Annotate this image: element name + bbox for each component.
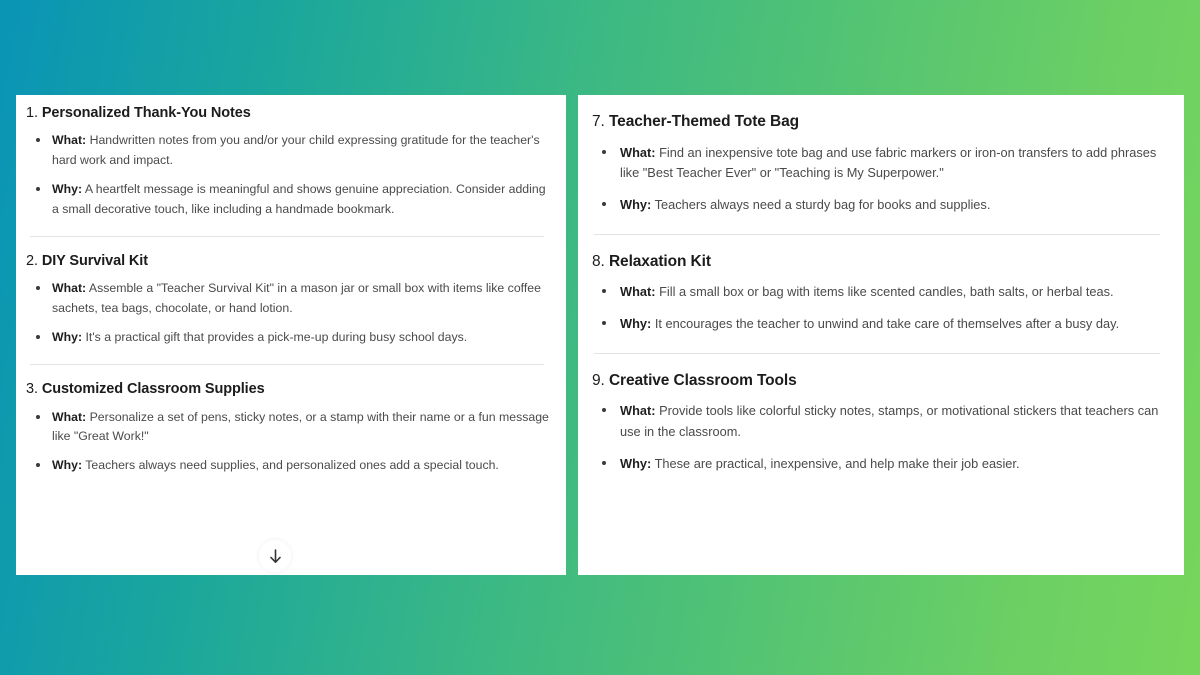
section-title: Teacher-Themed Tote Bag xyxy=(609,113,799,130)
section-heading: 7. Teacher-Themed Tote Bag xyxy=(592,113,1166,132)
bullet-label: What: xyxy=(620,145,656,160)
list-item: What: Find an inexpensive tote bag and u… xyxy=(592,143,1166,184)
section-9: 9. Creative Classroom Tools What: Provid… xyxy=(592,372,1166,475)
bullet-text: A heartfelt message is meaningful and sh… xyxy=(52,182,546,216)
section-bullet-list: What: Find an inexpensive tote bag and u… xyxy=(592,143,1166,216)
list-item: Why: These are practical, inexpensive, a… xyxy=(592,454,1166,475)
list-item: Why: It's a practical gift that provides… xyxy=(26,328,552,348)
section-number: 7. xyxy=(592,113,605,130)
section-title: DIY Survival Kit xyxy=(42,253,148,269)
section-2: 2. DIY Survival Kit What: Assemble a "Te… xyxy=(26,253,552,348)
list-item: What: Personalize a set of pens, sticky … xyxy=(26,408,552,448)
section-1: 1. Personalized Thank-You Notes What: Ha… xyxy=(26,105,552,220)
bullet-text: These are practical, inexpensive, and he… xyxy=(655,456,1020,471)
bullet-text: Teachers always need supplies, and perso… xyxy=(85,458,499,472)
bullet-label: Why: xyxy=(52,458,82,472)
list-item: Why: Teachers always need a sturdy bag f… xyxy=(592,195,1166,216)
bullet-text: It encourages the teacher to unwind and … xyxy=(655,316,1119,331)
bullet-label: Why: xyxy=(620,456,651,471)
list-item: Why: It encourages the teacher to unwind… xyxy=(592,314,1166,335)
section-number: 8. xyxy=(592,253,605,270)
list-item: Why: Teachers always need supplies, and … xyxy=(26,456,552,476)
section-heading: 9. Creative Classroom Tools xyxy=(592,372,1166,391)
scroll-down-button[interactable] xyxy=(259,540,291,572)
bullet-text: It's a practical gift that provides a pi… xyxy=(85,330,467,344)
section-title: Customized Classroom Supplies xyxy=(42,381,265,397)
section-heading: 3. Customized Classroom Supplies xyxy=(26,381,552,398)
list-item: What: Fill a small box or bag with items… xyxy=(592,282,1166,303)
bullet-label: What: xyxy=(52,133,86,147)
bullet-label: What: xyxy=(52,410,86,424)
arrow-down-icon xyxy=(268,548,283,565)
section-7: 7. Teacher-Themed Tote Bag What: Find an… xyxy=(592,113,1166,216)
bullet-label: Why: xyxy=(620,316,651,331)
section-number: 1. xyxy=(26,105,38,121)
list-item: What: Provide tools like colorful sticky… xyxy=(592,401,1166,442)
bullet-label: Why: xyxy=(52,330,82,344)
bullet-label: What: xyxy=(52,281,86,295)
section-bullet-list: What: Personalize a set of pens, sticky … xyxy=(26,408,552,477)
bullet-label: What: xyxy=(620,403,656,418)
section-8: 8. Relaxation Kit What: Fill a small box… xyxy=(592,253,1166,335)
bullet-label: What: xyxy=(620,284,656,299)
section-title: Relaxation Kit xyxy=(609,253,711,270)
section-heading: 2. DIY Survival Kit xyxy=(26,253,552,270)
section-bullet-list: What: Handwritten notes from you and/or … xyxy=(26,131,552,220)
bullet-label: Why: xyxy=(52,182,82,196)
list-item: What: Handwritten notes from you and/or … xyxy=(26,131,552,171)
section-divider xyxy=(30,364,544,365)
section-3: 3. Customized Classroom Supplies What: P… xyxy=(26,381,552,476)
bullet-text: Assemble a "Teacher Survival Kit" in a m… xyxy=(52,281,541,315)
bullet-text: Fill a small box or bag with items like … xyxy=(659,284,1114,299)
section-title: Personalized Thank-You Notes xyxy=(42,105,251,121)
section-bullet-list: What: Fill a small box or bag with items… xyxy=(592,282,1166,334)
section-title: Creative Classroom Tools xyxy=(609,372,797,389)
slide-canvas: 1. Personalized Thank-You Notes What: Ha… xyxy=(0,0,1200,675)
section-divider xyxy=(30,236,544,237)
section-heading: 8. Relaxation Kit xyxy=(592,253,1166,272)
list-item: Why: A heartfelt message is meaningful a… xyxy=(26,180,552,220)
section-divider xyxy=(594,353,1160,354)
section-heading: 1. Personalized Thank-You Notes xyxy=(26,105,552,122)
bullet-text: Provide tools like colorful sticky notes… xyxy=(620,403,1158,439)
section-divider xyxy=(594,234,1160,235)
bullet-text: Handwritten notes from you and/or your c… xyxy=(52,133,540,167)
bullet-label: Why: xyxy=(620,197,651,212)
left-content-card: 1. Personalized Thank-You Notes What: Ha… xyxy=(16,95,566,575)
bullet-text: Personalize a set of pens, sticky notes,… xyxy=(52,410,549,444)
bullet-text: Find an inexpensive tote bag and use fab… xyxy=(620,145,1156,181)
section-number: 3. xyxy=(26,381,38,397)
section-bullet-list: What: Provide tools like colorful sticky… xyxy=(592,401,1166,474)
section-bullet-list: What: Assemble a "Teacher Survival Kit" … xyxy=(26,279,552,348)
section-number: 2. xyxy=(26,253,38,269)
right-content-card: 7. Teacher-Themed Tote Bag What: Find an… xyxy=(578,95,1184,575)
bullet-text: Teachers always need a sturdy bag for bo… xyxy=(655,197,991,212)
content-columns: 1. Personalized Thank-You Notes What: Ha… xyxy=(16,95,1184,575)
section-number: 9. xyxy=(592,372,605,389)
list-item: What: Assemble a "Teacher Survival Kit" … xyxy=(26,279,552,319)
